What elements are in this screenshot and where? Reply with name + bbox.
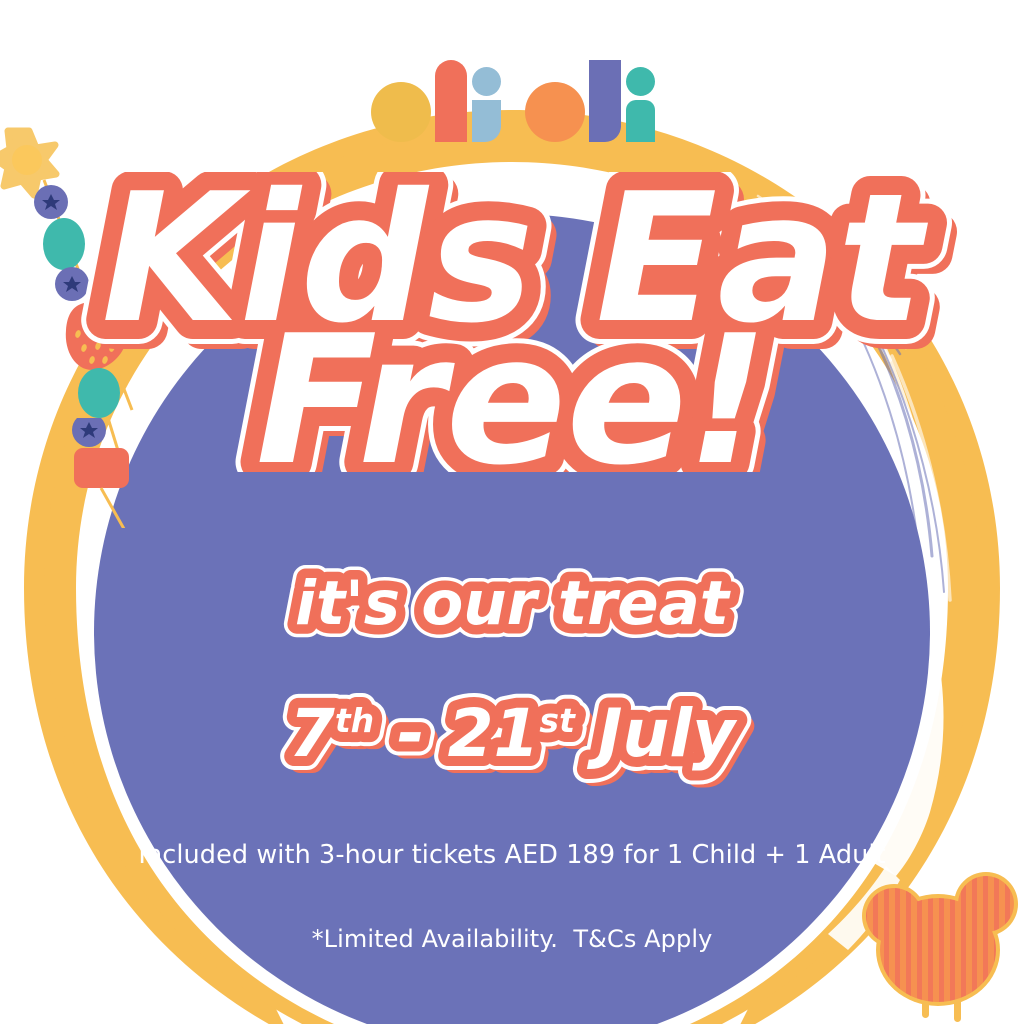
subheadline-block: .sh { font-family: "DejaVu Sans", sans-s… [0,552,1024,652]
headline-line2: Free! [256,297,768,472]
logo-o-circle-yellow [371,82,431,142]
logo-word-1 [371,60,499,142]
date-month: July [587,695,738,772]
logo-word-2 [525,60,653,142]
subheadline-text: it's our treat [295,568,732,639]
logo-i-dot-lightblue [472,67,501,96]
date-separator: - [397,695,424,772]
terms-text: *Limited Availability. T&Cs Apply [0,925,1024,953]
date-svg: .dt { font-family: "DejaVu Sans", sans-s… [0,678,1024,788]
date-day-start: 7 [289,695,335,772]
date-ord-end: st [539,701,576,740]
date-text: 7th - 21st July [289,695,738,772]
logo-o-circle-orange [525,82,585,142]
headline-svg: .hl { font-family: "DejaVu Sans", sans-s… [0,172,1024,472]
subheadline-svg: .sh { font-family: "DejaVu Sans", sans-s… [0,552,1024,652]
skewer-stick-tip [101,488,128,528]
date-ord-start: th [335,701,374,740]
promo-poster: .hl { font-family: "DejaVu Sans", sans-s… [0,0,1024,1024]
logo-i-body-teal [626,100,655,142]
included-details-text: Included with 3-hour tickets AED 189 for… [0,840,1024,870]
logo-l-purple [589,60,621,142]
logo-l-coral [435,60,467,142]
date-day-end: 21 [448,695,540,772]
headline-block: .hl { font-family: "DejaVu Sans", sans-s… [0,172,1024,472]
logo-i-dot-teal [626,67,655,96]
logo-i-body-lightblue [472,100,501,142]
date-block: .dt { font-family: "DejaVu Sans", sans-s… [0,678,1024,788]
